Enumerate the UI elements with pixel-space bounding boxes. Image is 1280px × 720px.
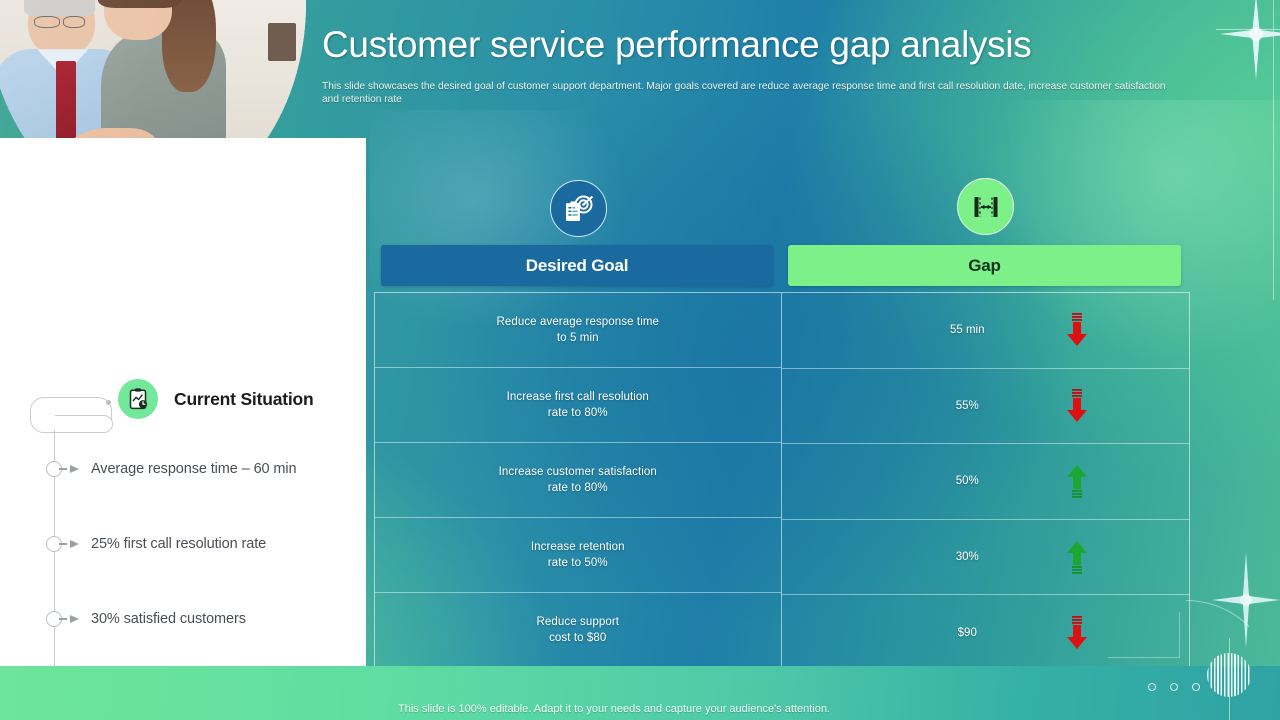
list-item-label: 30% satisfied customers <box>91 611 246 627</box>
sidebar-panel: Current Situation Average response time … <box>0 138 366 666</box>
goal-cell: Increase customer satisfaction rate to 8… <box>499 464 657 496</box>
decorative-line-top <box>1216 29 1280 30</box>
down-arrow-icon <box>1063 313 1091 347</box>
gap-value: 50% <box>746 475 1190 487</box>
timeline-arrow-stem <box>59 543 67 545</box>
list-item[interactable]: 25% first call resolution rate <box>46 536 266 552</box>
table-row: 55% <box>782 369 1190 445</box>
goal-line-2: cost to $80 <box>536 630 619 646</box>
table-row: Reduce support cost to $80 <box>375 593 781 667</box>
column-header-desired-goal: Desired Goal <box>381 245 773 286</box>
column-header-gap: Gap <box>788 245 1181 286</box>
gap-value: 30% <box>746 551 1190 563</box>
sidebar-heading: Current Situation <box>118 379 314 419</box>
decorative-line-right-edge <box>1273 0 1274 300</box>
list-item[interactable]: 30% satisfied customers <box>46 611 246 627</box>
goal-line-1: Increase first call resolution <box>507 389 649 405</box>
clipboard-chart-icon <box>118 379 158 419</box>
goal-line-2: rate to 80% <box>499 480 657 496</box>
decorative-rectangle <box>1108 612 1180 658</box>
timeline-arrow-stem <box>59 618 67 620</box>
goal-cell: Reduce average response time to 5 min <box>496 314 659 346</box>
down-arrow-icon <box>1063 389 1091 423</box>
goal-line-1: Reduce average response time <box>496 314 659 330</box>
goal-cell: Increase first call resolution rate to 8… <box>507 389 649 421</box>
comparison-table: Reduce average response time to 5 min In… <box>374 292 1190 671</box>
table-row: Increase retention rate to 50% <box>375 518 781 593</box>
target-clipboard-icon <box>550 180 607 237</box>
arrow-right-icon <box>70 615 79 623</box>
connector-bracket-inner <box>55 415 113 433</box>
table-header-row: Desired Goal Gap <box>381 245 1181 286</box>
header: Customer service performance gap analysi… <box>322 24 1222 106</box>
page-subtitle: This slide showcases the desired goal of… <box>322 80 1183 106</box>
four-point-star-icon <box>1220 0 1280 80</box>
gap-value: 55 min <box>746 324 1190 336</box>
list-item-label: 25% first call resolution rate <box>91 536 266 552</box>
arrow-right-icon <box>70 540 79 548</box>
table-row: Increase customer satisfaction rate to 8… <box>375 443 781 518</box>
goal-line-1: Reduce support <box>536 614 619 630</box>
goal-line-2: rate to 80% <box>507 405 649 421</box>
table-row: 30% <box>782 520 1190 596</box>
table-row: 50% <box>782 444 1190 520</box>
list-item-label: Average response time – 60 min <box>91 461 297 477</box>
goal-cell: Increase retention rate to 50% <box>531 539 625 571</box>
dot-indicator <box>1192 683 1200 691</box>
goal-line-1: Increase customer satisfaction <box>499 464 657 480</box>
dot-indicator <box>1148 683 1156 691</box>
gap-measure-icon <box>957 178 1014 235</box>
goal-line-2: to 5 min <box>496 330 659 346</box>
dot-indicator <box>1170 683 1178 691</box>
dot-indicators <box>1148 683 1200 691</box>
sidebar-heading-label: Current Situation <box>174 389 314 410</box>
timeline-arrow-stem <box>59 468 67 470</box>
up-arrow-icon <box>1063 464 1091 498</box>
connector-dot <box>106 400 111 405</box>
gap-value: 55% <box>746 400 1190 412</box>
arrow-right-icon <box>70 465 79 473</box>
goal-line-2: rate to 50% <box>531 555 625 571</box>
list-item[interactable]: Average response time – 60 min <box>46 461 297 477</box>
up-arrow-icon <box>1063 540 1091 574</box>
goal-line-1: Increase retention <box>531 539 625 555</box>
goal-cell: Reduce support cost to $80 <box>536 614 619 646</box>
slide-canvas: Customer service performance gap analysi… <box>0 0 1280 720</box>
table-row: Reduce average response time to 5 min <box>375 293 781 368</box>
footer-note: This slide is 100% editable. Adapt it to… <box>0 703 1280 715</box>
table-row: Increase first call resolution rate to 8… <box>375 368 781 443</box>
table-row: 55 min <box>782 293 1190 369</box>
desired-goal-column: Reduce average response time to 5 min In… <box>375 293 782 670</box>
down-arrow-icon <box>1063 616 1091 650</box>
page-title: Customer service performance gap analysi… <box>322 24 1222 66</box>
